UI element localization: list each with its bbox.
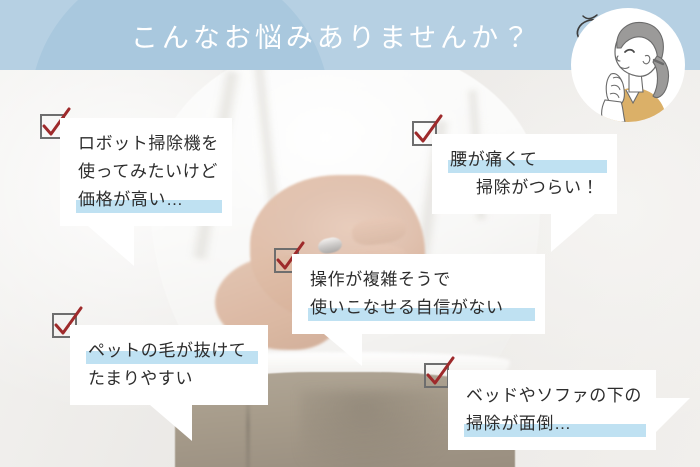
bubble-line: 操作が複雑そうで <box>310 266 529 294</box>
bubble-line-highlighted: ペットの毛が抜けて <box>88 337 252 365</box>
speech-bubble-robot-cleaner-price: ロボット掃除機を 使ってみたいけど 価格が高い… <box>60 118 232 226</box>
bubble-line-highlighted: 掃除が面倒… <box>466 410 640 438</box>
bubble-line: 使ってみたいけど <box>78 158 216 186</box>
promo-banner: こんなお悩みありませんか？ <box>0 0 700 467</box>
bubble-tail <box>551 214 595 252</box>
thinking-woman-icon <box>571 8 685 122</box>
speech-bubble-back-pain-cleaning: 腰が痛くて 掃除がつらい！ <box>432 134 617 214</box>
bubble-line: たまりやすい <box>88 365 252 393</box>
bubble-tail <box>324 334 362 366</box>
bubble-tail <box>656 398 690 432</box>
bubble-line-highlighted: 価格が高い… <box>78 186 216 214</box>
bubble-tail <box>88 226 134 266</box>
bubble-line: 掃除がつらい！ <box>450 174 601 202</box>
speech-bubble-pet-hair-accumulates: ペットの毛が抜けて たまりやすい <box>70 325 268 405</box>
speech-bubble-operation-too-complex: 操作が複雑そうで 使いこなせる自信がない <box>292 254 545 334</box>
bubble-line: ロボット掃除機を <box>78 130 216 158</box>
bubble-tail <box>150 405 192 441</box>
bubble-line-highlighted: 腰が痛くて <box>450 146 601 174</box>
bubble-line: ベッドやソファの下の <box>466 382 640 410</box>
avatar <box>571 8 685 122</box>
speech-bubble-under-bed-sofa-cleaning: ベッドやソファの下の 掃除が面倒… <box>448 370 656 450</box>
bubble-line-highlighted: 使いこなせる自信がない <box>310 294 529 322</box>
photo-pants-shadow <box>300 390 460 467</box>
